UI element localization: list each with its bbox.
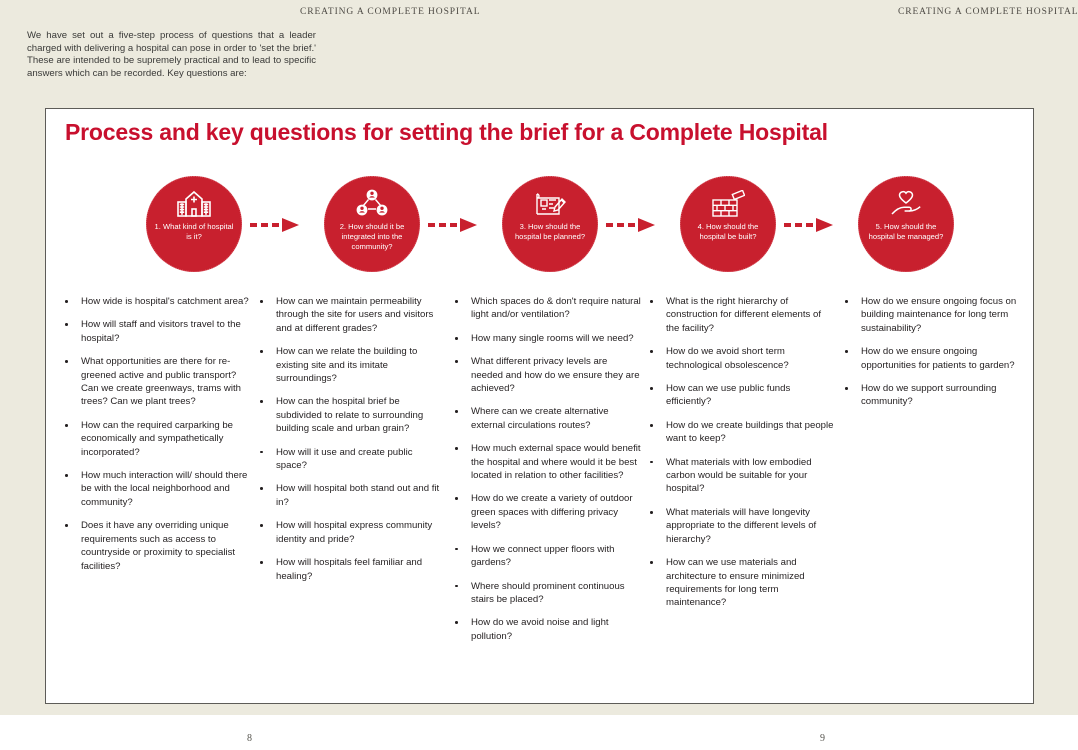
bullet-icon (65, 323, 68, 326)
question-text: How will staff and visitors travel to th… (81, 319, 241, 343)
bullet-icon (455, 300, 458, 303)
question-list-1: How wide is hospital's catchment area? H… (56, 295, 251, 573)
bullet-icon (260, 561, 263, 564)
question-text: What is the right hierarchy of construct… (666, 296, 821, 334)
question-text: What opportunities are there for re-gree… (81, 356, 241, 407)
list-item: How will staff and visitors travel to th… (56, 318, 251, 345)
page-sheet: CREATING A COMPLETE HOSPITAL CREATING A … (0, 0, 1078, 715)
question-column-3: Which spaces do & don't require natural … (446, 295, 641, 653)
question-text: How do we avoid short term technological… (666, 346, 789, 370)
question-text: Does it have any overriding unique requi… (81, 520, 235, 571)
connector-arrow-1 (248, 218, 310, 232)
question-text: Which spaces do & don't require natural … (471, 296, 641, 320)
bullet-icon (260, 524, 263, 527)
question-text: How can we use materials and architectur… (666, 557, 805, 608)
bullet-icon (650, 387, 653, 390)
list-item: How do we ensure ongoing focus on buildi… (836, 295, 1031, 335)
list-item: How many single rooms will we need? (446, 332, 641, 345)
question-text: How will it use and create public space? (276, 447, 413, 471)
list-item: How much interaction will/ should there … (56, 469, 251, 509)
list-item: How will hospital express community iden… (251, 519, 446, 546)
question-text: How can we maintain permeability through… (276, 296, 433, 334)
list-item: How can we use public funds efficiently? (641, 382, 836, 409)
running-head-right: CREATING A COMPLETE HOSPITAL (898, 7, 1078, 17)
bullet-icon (65, 424, 68, 427)
question-text: How do we create buildings that people w… (666, 420, 833, 444)
list-item: Does it have any overriding unique requi… (56, 519, 251, 573)
bullet-icon (65, 360, 68, 363)
bullet-icon (260, 350, 263, 353)
brick-wall-icon (711, 189, 745, 219)
list-item: How do we ensure ongoing opportunities f… (836, 345, 1031, 372)
connector-arrow-4 (782, 218, 844, 232)
question-text: How will hospitals feel familiar and hea… (276, 557, 422, 581)
bullet-icon (455, 621, 458, 624)
blueprint-pencil-icon (533, 189, 567, 219)
connector-arrow-3 (604, 218, 666, 232)
bullet-icon (65, 300, 68, 303)
list-item: How wide is hospital's catchment area? (56, 295, 251, 308)
process-step-1-label: 1. What kind of hospital is it? (151, 222, 237, 242)
process-step-strip: 1. What kind of hospital is it? (56, 171, 1025, 279)
question-list-5: How do we ensure ongoing focus on buildi… (836, 295, 1031, 409)
question-text: Where can we create alternative external… (471, 406, 609, 430)
community-network-icon (355, 189, 389, 219)
process-step-4-circle[interactable]: 4. How should the hospital be built? (680, 176, 776, 272)
list-item: How do we avoid noise and light pollutio… (446, 616, 641, 643)
process-step-3-circle[interactable]: 3. How should the hospital be planned? (502, 176, 598, 272)
question-text: How do we ensure ongoing opportunities f… (861, 346, 1015, 370)
question-text: How much interaction will/ should there … (81, 470, 247, 508)
bullet-icon (455, 548, 458, 551)
bullet-icon (650, 300, 653, 303)
bullet-icon (260, 300, 263, 303)
question-text: Where should prominent continuous stairs… (471, 581, 625, 605)
list-item: Where should prominent continuous stairs… (446, 580, 641, 607)
bullet-icon (455, 447, 458, 450)
bullet-icon (845, 387, 848, 390)
question-text: How we connect upper floors with gardens… (471, 544, 614, 568)
question-text: How will hospital express community iden… (276, 520, 432, 544)
diagram-card: Process and key questions for setting th… (45, 108, 1034, 704)
list-item: How much external space would benefit th… (446, 442, 641, 482)
list-item: How will hospitals feel familiar and hea… (251, 556, 446, 583)
process-step-1[interactable]: 1. What kind of hospital is it? (146, 176, 242, 272)
heart-in-hand-icon (888, 189, 924, 219)
intro-paragraph: We have set out a five-step process of q… (27, 30, 316, 80)
question-text: How can the required carparking be econo… (81, 420, 233, 458)
bullet-icon (260, 400, 263, 403)
question-text: How can we relate the building to existi… (276, 346, 417, 384)
bullet-icon (260, 451, 263, 454)
page-number-right: 9 (820, 733, 825, 744)
question-text: How many single rooms will we need? (471, 333, 634, 344)
list-item: How do we support surrounding community? (836, 382, 1031, 409)
list-item: What is the right hierarchy of construct… (641, 295, 836, 335)
question-text: How can we use public funds efficiently? (666, 383, 790, 407)
list-item: Which spaces do & don't require natural … (446, 295, 641, 322)
diagram-title: Process and key questions for setting th… (65, 119, 828, 146)
question-text: How do we create a variety of outdoor gr… (471, 493, 633, 531)
list-item: How can the required carparking be econo… (56, 419, 251, 459)
process-step-4[interactable]: 4. How should the hospital be built? (680, 176, 776, 272)
list-item: What opportunities are there for re-gree… (56, 355, 251, 409)
list-item: How can we relate the building to existi… (251, 345, 446, 385)
connector-arrow-2 (426, 218, 488, 232)
question-text: What materials with low embodied carbon … (666, 457, 812, 495)
process-step-5-circle[interactable]: 5. How should the hospital be managed? (858, 176, 954, 272)
list-item: How we connect upper floors with gardens… (446, 543, 641, 570)
question-text: What materials will have longevity appro… (666, 507, 816, 545)
process-step-2[interactable]: 2. How should it be integrated into the … (324, 176, 420, 272)
list-item: How will hospital both stand out and fit… (251, 482, 446, 509)
process-step-1-circle[interactable]: 1. What kind of hospital is it? (146, 176, 242, 272)
question-column-1: How wide is hospital's catchment area? H… (56, 295, 251, 653)
question-text: How can the hospital brief be subdivided… (276, 396, 423, 434)
bullet-icon (455, 360, 458, 363)
process-step-3-label: 3. How should the hospital be planned? (507, 222, 593, 242)
question-text: How do we ensure ongoing focus on buildi… (861, 296, 1016, 334)
list-item: How can we maintain permeability through… (251, 295, 446, 335)
process-step-3[interactable]: 3. How should the hospital be planned? (502, 176, 598, 272)
question-column-4: What is the right hierarchy of construct… (641, 295, 836, 653)
bullet-icon (650, 561, 653, 564)
bullet-icon (455, 585, 458, 588)
list-item: What materials will have longevity appro… (641, 506, 836, 546)
process-step-5-label: 5. How should the hospital be managed? (863, 222, 949, 242)
process-step-2-circle[interactable]: 2. How should it be integrated into the … (324, 176, 420, 272)
list-item: How do we avoid short term technological… (641, 345, 836, 372)
bullet-icon (845, 350, 848, 353)
page-number-left: 8 (247, 733, 252, 744)
list-item: What materials with low embodied carbon … (641, 456, 836, 496)
question-column-5: How do we ensure ongoing focus on buildi… (836, 295, 1031, 653)
list-item: How will it use and create public space? (251, 446, 446, 473)
question-text: How wide is hospital's catchment area? (81, 296, 249, 307)
bullet-icon (845, 300, 848, 303)
question-text: How much external space would benefit th… (471, 443, 641, 481)
question-text: What different privacy levels are needed… (471, 356, 640, 394)
question-list-2: How can we maintain permeability through… (251, 295, 446, 583)
hospital-building-icon (176, 189, 212, 219)
running-head-left: CREATING A COMPLETE HOSPITAL (300, 7, 480, 17)
question-text: How do we support surrounding community? (861, 383, 996, 407)
question-text: How will hospital both stand out and fit… (276, 483, 439, 507)
bullet-icon (455, 497, 458, 500)
list-item: How do we create buildings that people w… (641, 419, 836, 446)
question-list-4: What is the right hierarchy of construct… (641, 295, 836, 610)
process-step-4-label: 4. How should the hospital be built? (685, 222, 771, 242)
bullet-icon (65, 474, 68, 477)
process-step-5[interactable]: 5. How should the hospital be managed? (858, 176, 954, 272)
list-item: Where can we create alternative external… (446, 405, 641, 432)
bullet-icon (455, 410, 458, 413)
list-item: How can the hospital brief be subdivided… (251, 395, 446, 435)
bullet-icon (650, 511, 653, 514)
bullet-icon (650, 424, 653, 427)
question-column-2: How can we maintain permeability through… (251, 295, 446, 653)
bullet-icon (65, 524, 68, 527)
bullet-icon (455, 337, 458, 340)
bullet-icon (650, 461, 653, 464)
bullet-icon (650, 350, 653, 353)
list-item: How do we create a variety of outdoor gr… (446, 492, 641, 532)
question-list-3: Which spaces do & don't require natural … (446, 295, 641, 643)
list-item: What different privacy levels are needed… (446, 355, 641, 395)
process-step-2-label: 2. How should it be integrated into the … (329, 222, 415, 251)
bullet-icon (260, 487, 263, 490)
question-columns: How wide is hospital's catchment area? H… (56, 295, 1031, 653)
list-item: How can we use materials and architectur… (641, 556, 836, 610)
question-text: How do we avoid noise and light pollutio… (471, 617, 609, 641)
